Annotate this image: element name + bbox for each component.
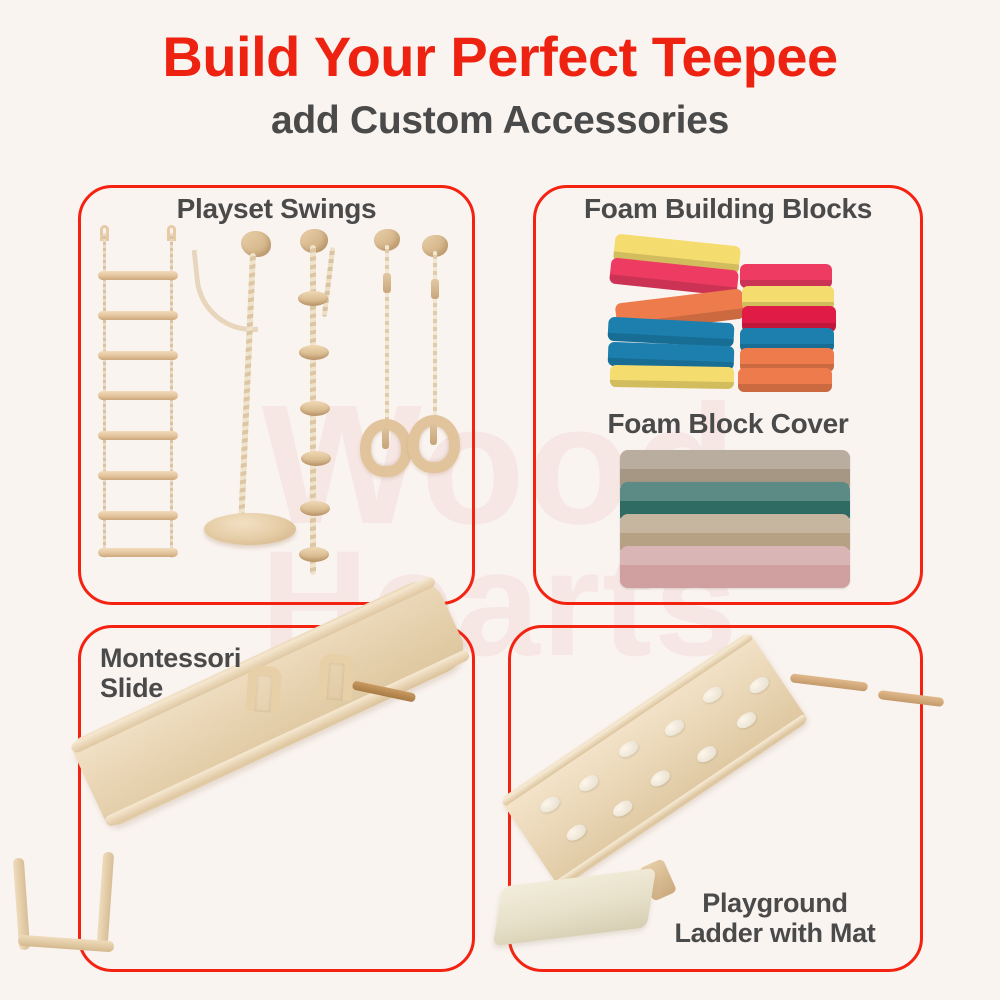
card-title-playground-ladder: Playground Ladder with Mat — [640, 888, 910, 948]
card-title-montessori-slide: Montessori Slide — [100, 643, 340, 703]
card-title-line-2: Slide — [100, 673, 340, 703]
card-title-line-1: Montessori — [100, 643, 340, 673]
card-title-line-2: Ladder with Mat — [640, 918, 910, 948]
page-title: Build Your Perfect Teepee — [0, 28, 1000, 87]
header: Build Your Perfect Teepee add Custom Acc… — [0, 28, 1000, 143]
card-title-playset-swings: Playset Swings — [78, 193, 475, 224]
card-playset-swings[interactable] — [78, 185, 475, 605]
card-title-foam-building-blocks: Foam Building Blocks — [533, 193, 923, 224]
page-subtitle: add Custom Accessories — [0, 99, 1000, 143]
card-foam-building-blocks[interactable] — [533, 185, 923, 605]
card-title-foam-block-cover: Foam Block Cover — [533, 408, 923, 439]
card-title-line-1: Playground — [640, 888, 910, 918]
slide-leg-front — [13, 858, 30, 951]
